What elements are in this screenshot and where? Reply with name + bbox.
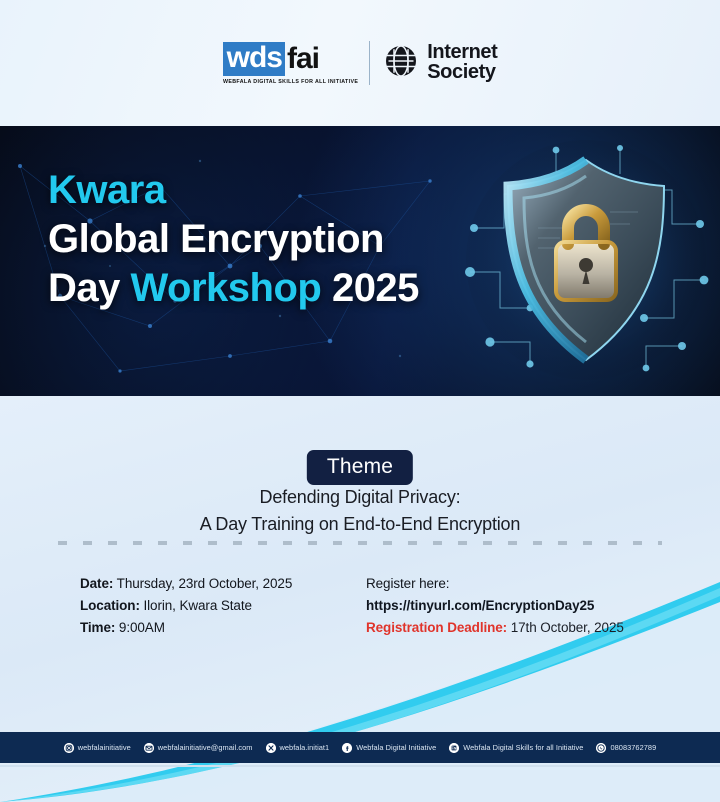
logo-divider xyxy=(369,41,370,85)
footer-label-email: webfalainitiative@gmail.com xyxy=(158,743,253,752)
event-date-value: Thursday, 23rd October, 2025 xyxy=(113,576,292,591)
event-time-value: 9:00AM xyxy=(115,620,165,635)
hero-title-global-encryption: Global Encryption xyxy=(48,217,384,261)
theme-text: Defending Digital Privacy: A Day Trainin… xyxy=(0,484,720,538)
social-footer-bar: webfalainitiative webfalainitiative@gmai… xyxy=(0,732,720,763)
shield-padlock-icon xyxy=(460,132,712,388)
footer-item-email[interactable]: webfalainitiative@gmail.com xyxy=(144,743,253,753)
registration-deadline-value: 17th October, 2025 xyxy=(507,620,624,635)
footer-item-x-twitter[interactable]: webfala.initiat1 xyxy=(266,743,330,753)
event-location-value: Ilorin, Kwara State xyxy=(140,598,252,613)
whatsapp-icon xyxy=(596,743,606,753)
logo-header: wds fai WEBFALA DIGITAL SKILLS FOR ALL I… xyxy=(0,0,720,126)
theme-badge: Theme xyxy=(307,450,413,485)
globe-icon xyxy=(384,44,418,83)
event-details: Date: Thursday, 23rd October, 2025 Locat… xyxy=(80,573,292,639)
hero-title-workshop: Workshop xyxy=(131,266,322,310)
hero-title-line-3: Day Workshop 2025 xyxy=(48,264,419,313)
hero-title-line-1: Kwara xyxy=(48,166,419,215)
hero-banner: Kwara Global Encryption Day Workshop 202… xyxy=(0,126,720,396)
footer-label-x-twitter: webfala.initiat1 xyxy=(280,743,330,752)
register-prompt: Register here: xyxy=(366,573,624,595)
event-location-row: Location: Ilorin, Kwara State xyxy=(80,595,292,617)
footer-item-phone[interactable]: 08083762789 xyxy=(596,743,656,753)
wdsfai-logo-plain-text: fai xyxy=(285,44,319,74)
instagram-icon xyxy=(64,743,74,753)
registration-deadline-row: Registration Deadline: 17th October, 202… xyxy=(366,617,624,639)
logo-group: wds fai WEBFALA DIGITAL SKILLS FOR ALL I… xyxy=(223,41,498,85)
footer-label-phone: 08083762789 xyxy=(610,743,656,752)
facebook-icon xyxy=(342,743,352,753)
wdsfai-logo-tagline: WEBFALA DIGITAL SKILLS FOR ALL INITIATIV… xyxy=(223,79,358,85)
isoc-line-2: Society xyxy=(427,63,497,83)
registration-link[interactable]: https://tinyurl.com/EncryptionDay25 xyxy=(366,595,624,617)
event-date-label: Date: xyxy=(80,576,113,591)
wdsfai-logo: wds fai WEBFALA DIGITAL SKILLS FOR ALL I… xyxy=(223,42,356,85)
linkedin-icon xyxy=(449,743,459,753)
hero-title-block: Kwara Global Encryption Day Workshop 202… xyxy=(48,166,419,312)
footer-item-instagram[interactable]: webfalainitiative xyxy=(64,743,131,753)
footer-item-facebook[interactable]: Webfala Digital Initiative xyxy=(342,743,436,753)
footer-label-facebook: Webfala Digital Initiative xyxy=(356,743,436,752)
footer-label-instagram: webfalainitiative xyxy=(78,743,131,752)
hero-title-day: Day xyxy=(48,266,131,310)
registration-details: Register here: https://tinyurl.com/Encry… xyxy=(366,573,624,639)
wdsfai-wordmark: wds fai xyxy=(223,42,319,76)
event-flyer: wds fai WEBFALA DIGITAL SKILLS FOR ALL I… xyxy=(0,0,720,802)
event-time-label: Time: xyxy=(80,620,115,635)
wdsfai-logo-boxed-text: wds xyxy=(223,42,285,76)
footer-item-linkedin[interactable]: Webfala Digital Skills for all Initiativ… xyxy=(449,743,583,753)
section-divider xyxy=(58,541,662,545)
event-date-row: Date: Thursday, 23rd October, 2025 xyxy=(80,573,292,595)
theme-line-2: A Day Training on End-to-End Encryption xyxy=(0,511,720,538)
hero-title-year: 2025 xyxy=(321,266,419,310)
footer-label-linkedin: Webfala Digital Skills for all Initiativ… xyxy=(463,743,583,752)
event-time-row: Time: 9:00AM xyxy=(80,617,292,639)
hero-title-kwara: Kwara xyxy=(48,168,166,212)
theme-line-1: Defending Digital Privacy: xyxy=(0,484,720,511)
footer-underline xyxy=(0,765,720,767)
registration-deadline-label: Registration Deadline: xyxy=(366,620,507,635)
internet-society-logo: Internet Society xyxy=(384,43,497,82)
hero-title-line-2: Global Encryption xyxy=(48,215,419,264)
x-twitter-icon xyxy=(266,743,276,753)
email-icon xyxy=(144,743,154,753)
internet-society-wordmark: Internet Society xyxy=(427,43,497,82)
event-location-label: Location: xyxy=(80,598,140,613)
